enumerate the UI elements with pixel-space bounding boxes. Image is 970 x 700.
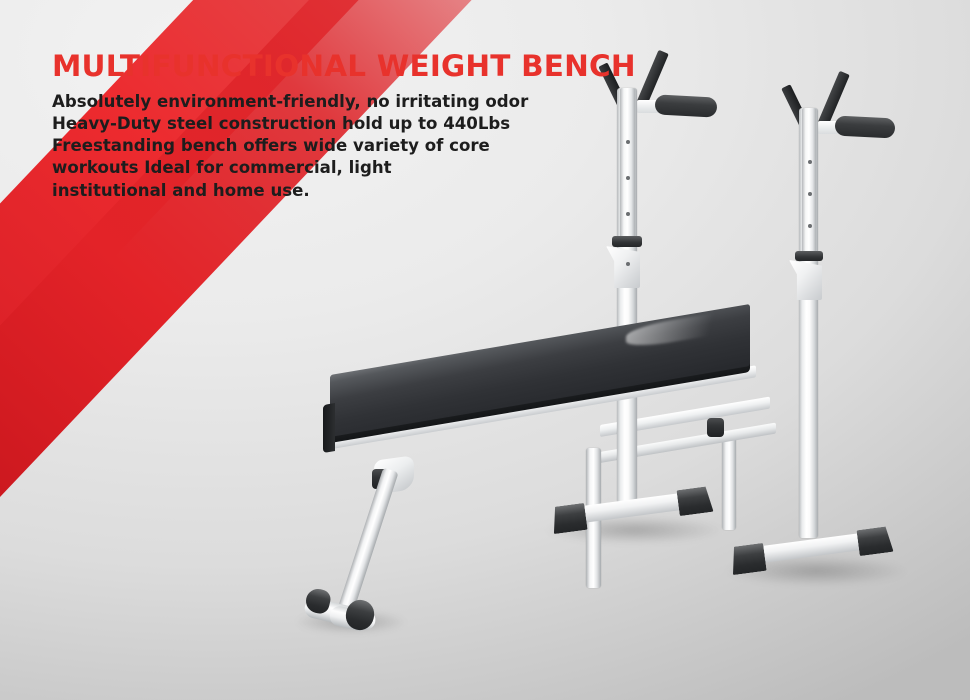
height-adjustment-collar-rear <box>795 251 823 261</box>
foot-cap-front-right <box>676 486 713 516</box>
foot-cap-front-left <box>550 503 587 534</box>
foot-cap-rear-left <box>729 543 766 575</box>
post-hole <box>808 160 812 164</box>
height-adjustment-collar-front <box>612 236 642 247</box>
foot-cap-rear-right <box>856 526 893 556</box>
copy-block: MULTIFUNCTIONAL WEIGHT BENCH Absolutely … <box>52 52 652 202</box>
post-hole <box>808 192 812 196</box>
bench-pad-end-cap <box>323 403 335 453</box>
bench-rear-upright <box>722 434 736 530</box>
post-hole <box>626 212 630 216</box>
rack-bracket-front <box>606 246 640 288</box>
rack-post-rear-inner-tube <box>802 108 816 258</box>
post-hole <box>808 224 812 228</box>
rack-bracket-rear <box>789 260 822 300</box>
adjustment-knob-rear <box>707 418 724 437</box>
spotter-arm-front <box>655 94 718 117</box>
post-hole <box>626 262 630 266</box>
spotter-arm-rear <box>835 115 896 138</box>
page-title: MULTIFUNCTIONAL WEIGHT BENCH <box>52 52 652 82</box>
product-banner: MULTIFUNCTIONAL WEIGHT BENCH Absolutely … <box>0 0 970 700</box>
product-description: Absolutely environment-friendly, no irri… <box>52 91 652 203</box>
